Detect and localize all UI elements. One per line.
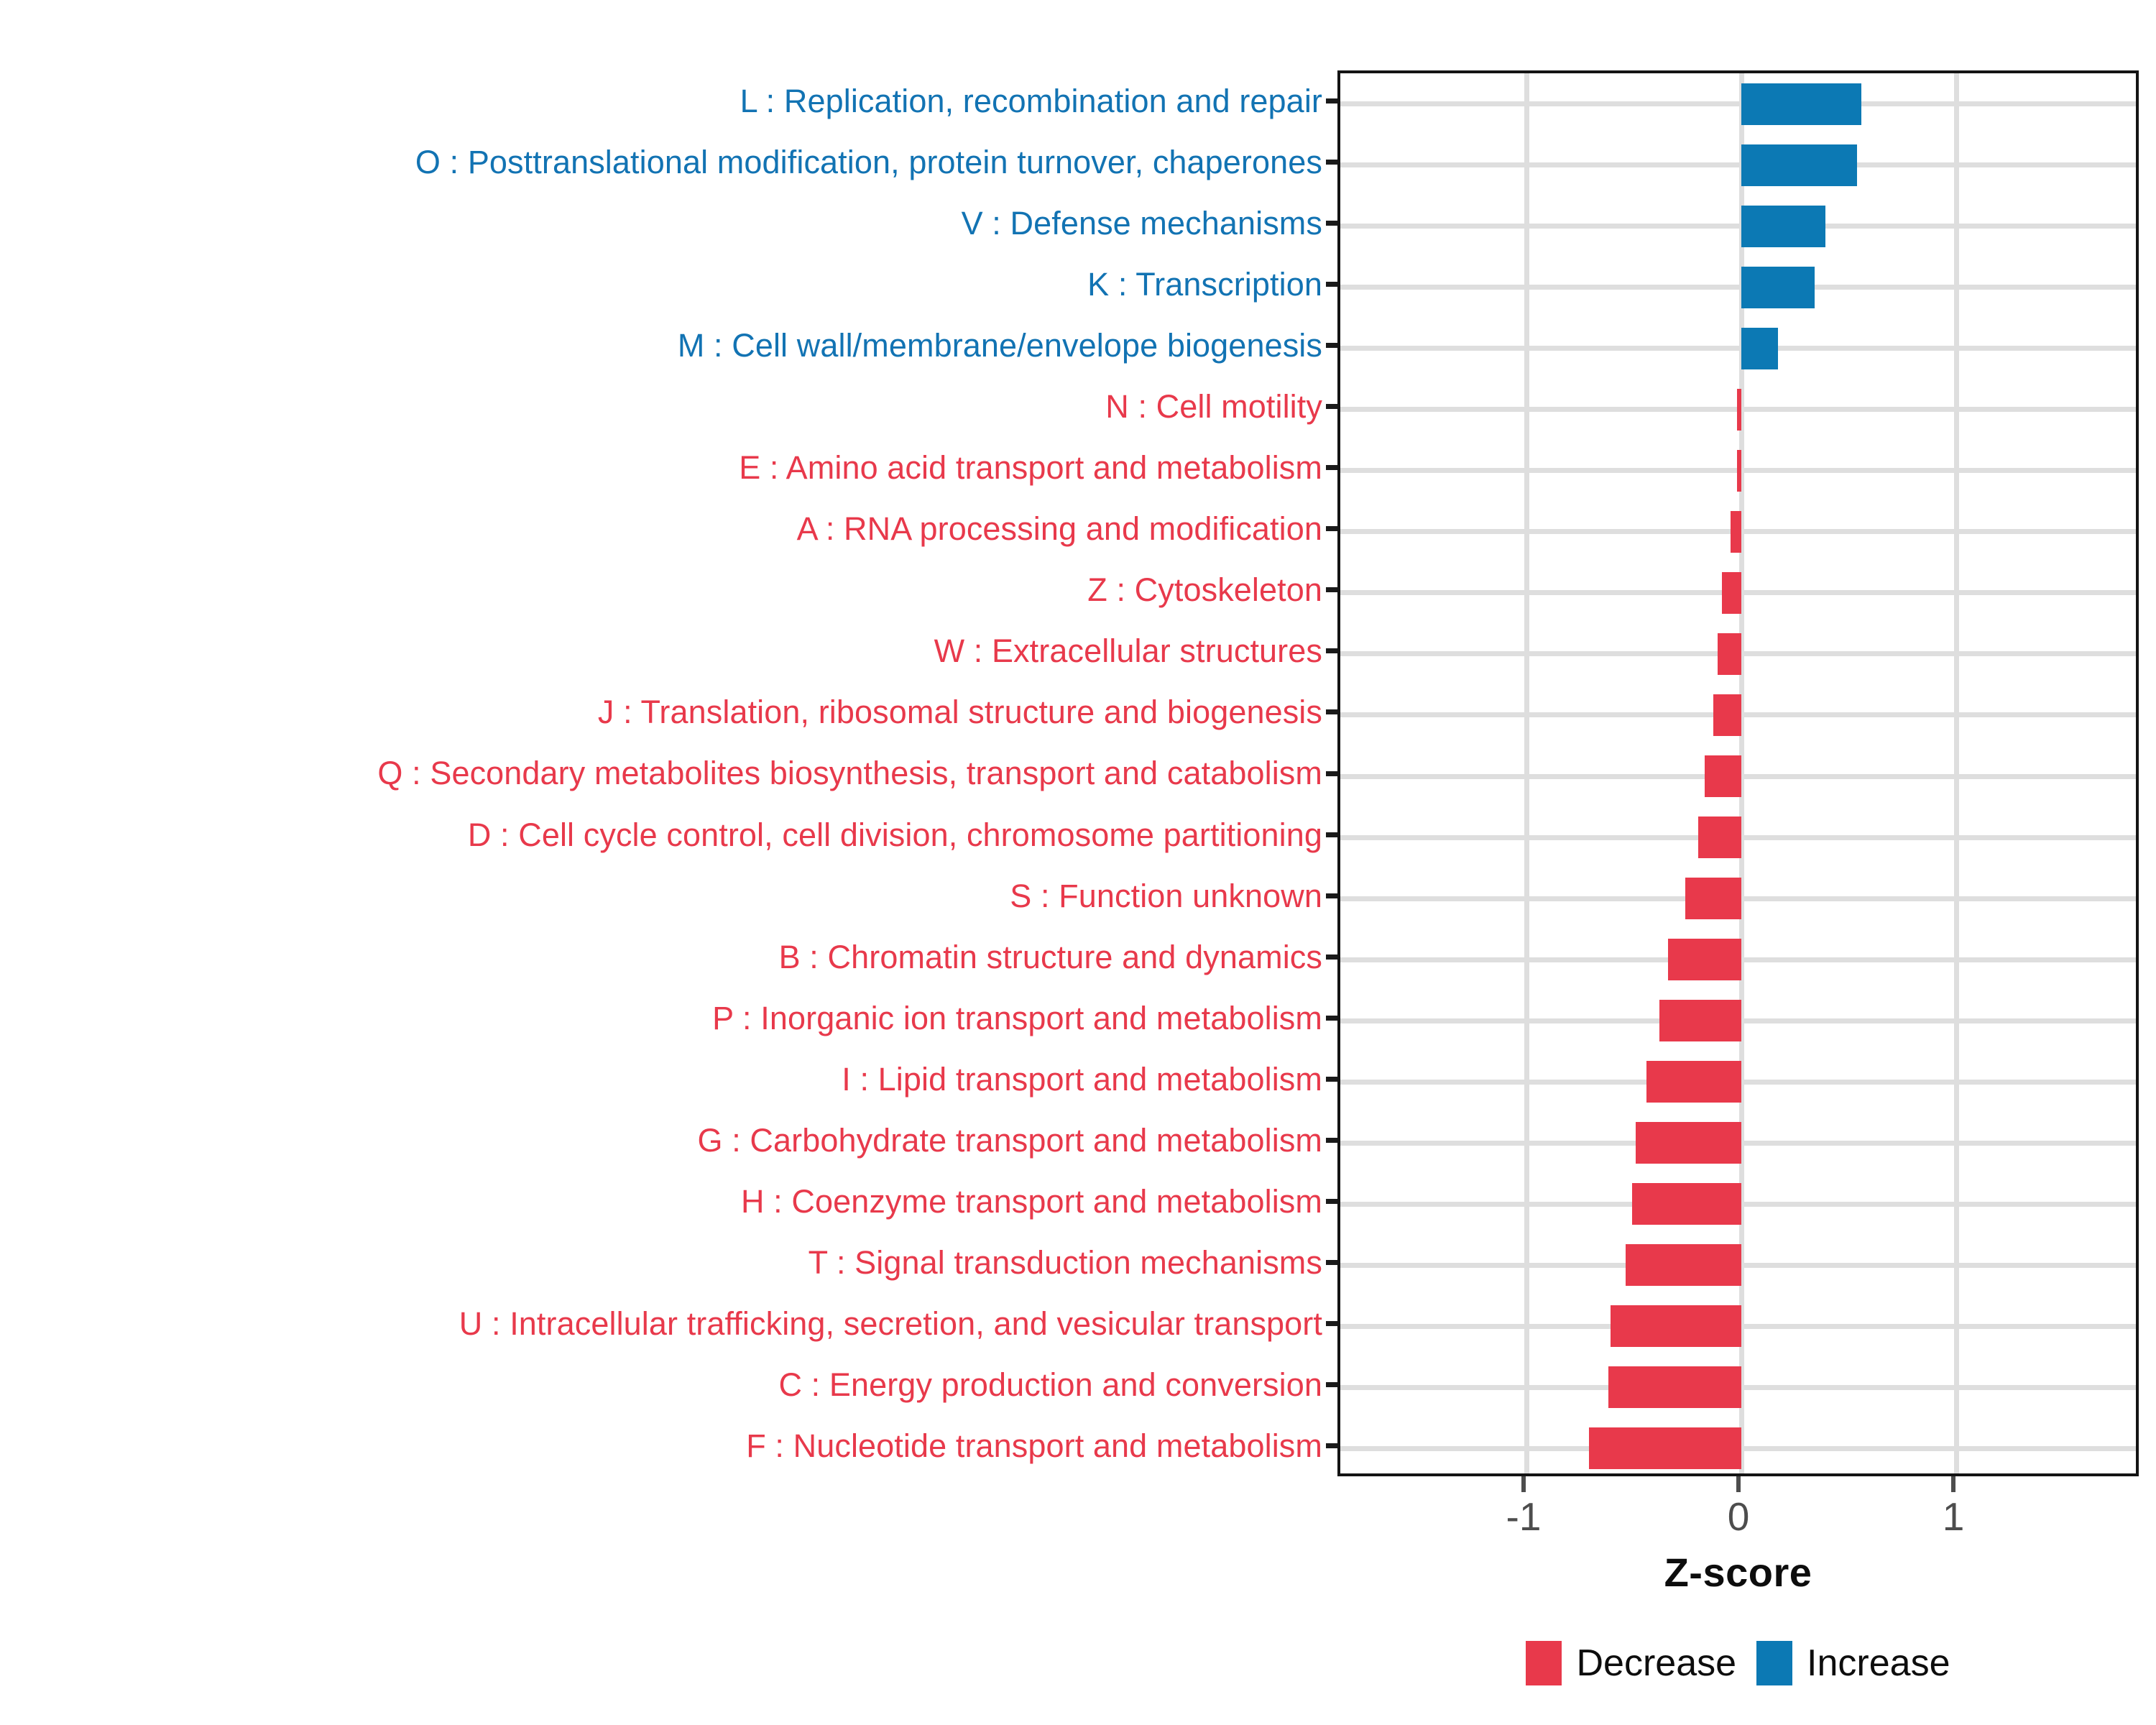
bar-decrease[interactable] <box>1636 1122 1741 1164</box>
bar-decrease[interactable] <box>1685 878 1741 919</box>
y-axis-tick-mark <box>1326 343 1337 348</box>
y-axis-tick-mark <box>1326 587 1337 592</box>
bar-decrease[interactable] <box>1722 572 1741 614</box>
y-axis-category-labels: L : Replication, recombination and repai… <box>0 70 1322 1476</box>
gridline-horizontal <box>1340 224 2136 229</box>
bar-decrease[interactable] <box>1632 1183 1741 1225</box>
x-axis-tick-mark <box>1521 1476 1526 1492</box>
y-axis-tick-label: L : Replication, recombination and repai… <box>740 70 1322 132</box>
y-axis-tick-label: G : Carbohydrate transport and metabolis… <box>697 1110 1322 1171</box>
bar-increase[interactable] <box>1741 267 1815 308</box>
bar-decrease[interactable] <box>1705 755 1741 797</box>
x-axis-title: Z-score <box>1337 1549 2139 1596</box>
y-axis-tick-mark <box>1326 1138 1337 1143</box>
y-axis-tick-mark <box>1326 832 1337 837</box>
x-axis-tick-label: 1 <box>1896 1494 2011 1540</box>
y-axis-tick-label: A : RNA processing and modification <box>797 498 1322 559</box>
legend-swatch-increase-icon <box>1756 1641 1792 1685</box>
plot-panel <box>1337 70 2139 1476</box>
y-axis-tick-label: E : Amino acid transport and metabolism <box>739 437 1322 498</box>
y-axis-tick-label: C : Energy production and conversion <box>778 1354 1322 1415</box>
y-axis-tick-mark <box>1326 709 1337 714</box>
y-axis-tick-label: I : Lipid transport and metabolism <box>842 1049 1322 1110</box>
bar-decrease[interactable] <box>1668 939 1741 980</box>
x-axis-tick-label: 0 <box>1681 1494 1796 1540</box>
cog-zscore-barchart-figure: L : Replication, recombination and repai… <box>0 0 2156 1725</box>
gridline-horizontal <box>1340 162 2136 167</box>
y-axis-tick-label: J : Translation, ribosomal structure and… <box>598 681 1322 742</box>
y-axis-tick-label: O : Posttranslational modification, prot… <box>415 132 1322 193</box>
x-axis-tick-label: -1 <box>1466 1494 1581 1540</box>
x-axis-tick-mark <box>1951 1476 1955 1492</box>
y-axis-tick-label: H : Coenzyme transport and metabolism <box>741 1171 1322 1232</box>
y-axis-tick-label: M : Cell wall/membrane/envelope biogenes… <box>678 315 1322 376</box>
bar-decrease[interactable] <box>1718 633 1741 675</box>
bar-decrease[interactable] <box>1626 1244 1741 1286</box>
legend-label-increase: Increase <box>1807 1642 1950 1685</box>
y-axis-tick-mark <box>1326 893 1337 898</box>
legend: Decrease Increase <box>1337 1641 2139 1685</box>
y-axis-tick-mark <box>1326 1016 1337 1021</box>
y-axis-tick-mark <box>1326 771 1337 776</box>
y-axis-tick-mark <box>1326 98 1337 103</box>
bar-decrease[interactable] <box>1737 389 1741 431</box>
bar-decrease[interactable] <box>1737 450 1741 492</box>
bar-decrease[interactable] <box>1659 1000 1741 1041</box>
gridline-horizontal <box>1340 285 2136 290</box>
y-axis-tick-mark <box>1326 648 1337 653</box>
y-axis-tick-mark <box>1326 1443 1337 1448</box>
legend-item-decrease[interactable]: Decrease <box>1526 1641 1736 1685</box>
bar-decrease[interactable] <box>1646 1061 1741 1103</box>
y-axis-tick-mark <box>1326 160 1337 165</box>
gridline-horizontal <box>1340 346 2136 351</box>
y-axis-tick-mark <box>1326 1382 1337 1387</box>
y-axis-tick-mark <box>1326 404 1337 409</box>
y-axis-tick-mark <box>1326 465 1337 470</box>
y-axis-tick-label: N : Cell motility <box>1105 376 1322 437</box>
bar-increase[interactable] <box>1741 206 1825 247</box>
bar-decrease[interactable] <box>1698 816 1741 858</box>
y-axis-tick-label: W : Extracellular structures <box>934 620 1322 681</box>
y-axis-tick-mark <box>1326 526 1337 531</box>
bar-decrease[interactable] <box>1731 511 1741 553</box>
bar-increase[interactable] <box>1741 144 1857 186</box>
y-axis-tick-mark <box>1326 282 1337 287</box>
y-axis-tick-label: Q : Secondary metabolites biosynthesis, … <box>377 742 1322 804</box>
y-axis-tick-label: K : Transcription <box>1087 254 1322 315</box>
gridline-horizontal <box>1340 101 2136 106</box>
y-axis-tick-label: V : Defense mechanisms <box>962 193 1322 254</box>
y-axis-tick-mark <box>1326 1260 1337 1265</box>
bar-decrease[interactable] <box>1589 1427 1741 1469</box>
legend-swatch-decrease-icon <box>1526 1641 1562 1685</box>
legend-item-increase[interactable]: Increase <box>1756 1641 1950 1685</box>
y-axis-tick-label: U : Intracellular trafficking, secretion… <box>459 1293 1322 1354</box>
y-axis-tick-mark <box>1326 954 1337 960</box>
x-axis-tick-mark <box>1736 1476 1741 1492</box>
y-axis-tick-label: D : Cell cycle control, cell division, c… <box>468 804 1322 865</box>
y-axis-tick-mark <box>1326 221 1337 226</box>
bar-decrease[interactable] <box>1713 694 1741 736</box>
bar-decrease[interactable] <box>1608 1366 1741 1408</box>
y-axis-tick-mark <box>1326 1077 1337 1082</box>
gridline-vertical <box>1524 73 1529 1473</box>
y-axis-tick-mark <box>1326 1321 1337 1326</box>
bar-increase[interactable] <box>1741 328 1778 369</box>
y-axis-tick-label: B : Chromatin structure and dynamics <box>779 926 1322 988</box>
y-axis-tick-label: F : Nucleotide transport and metabolism <box>746 1415 1322 1476</box>
y-axis-tick-label: Z : Cytoskeleton <box>1087 559 1322 620</box>
y-axis-tick-label: S : Function unknown <box>1010 865 1322 926</box>
y-axis-tick-mark <box>1326 1199 1337 1204</box>
bar-increase[interactable] <box>1741 83 1861 125</box>
y-axis-tick-label: P : Inorganic ion transport and metaboli… <box>712 988 1322 1049</box>
legend-label-decrease: Decrease <box>1576 1642 1736 1685</box>
gridline-vertical <box>1954 73 1959 1473</box>
y-axis-tick-label: T : Signal transduction mechanisms <box>808 1232 1322 1293</box>
bar-decrease[interactable] <box>1611 1305 1741 1347</box>
